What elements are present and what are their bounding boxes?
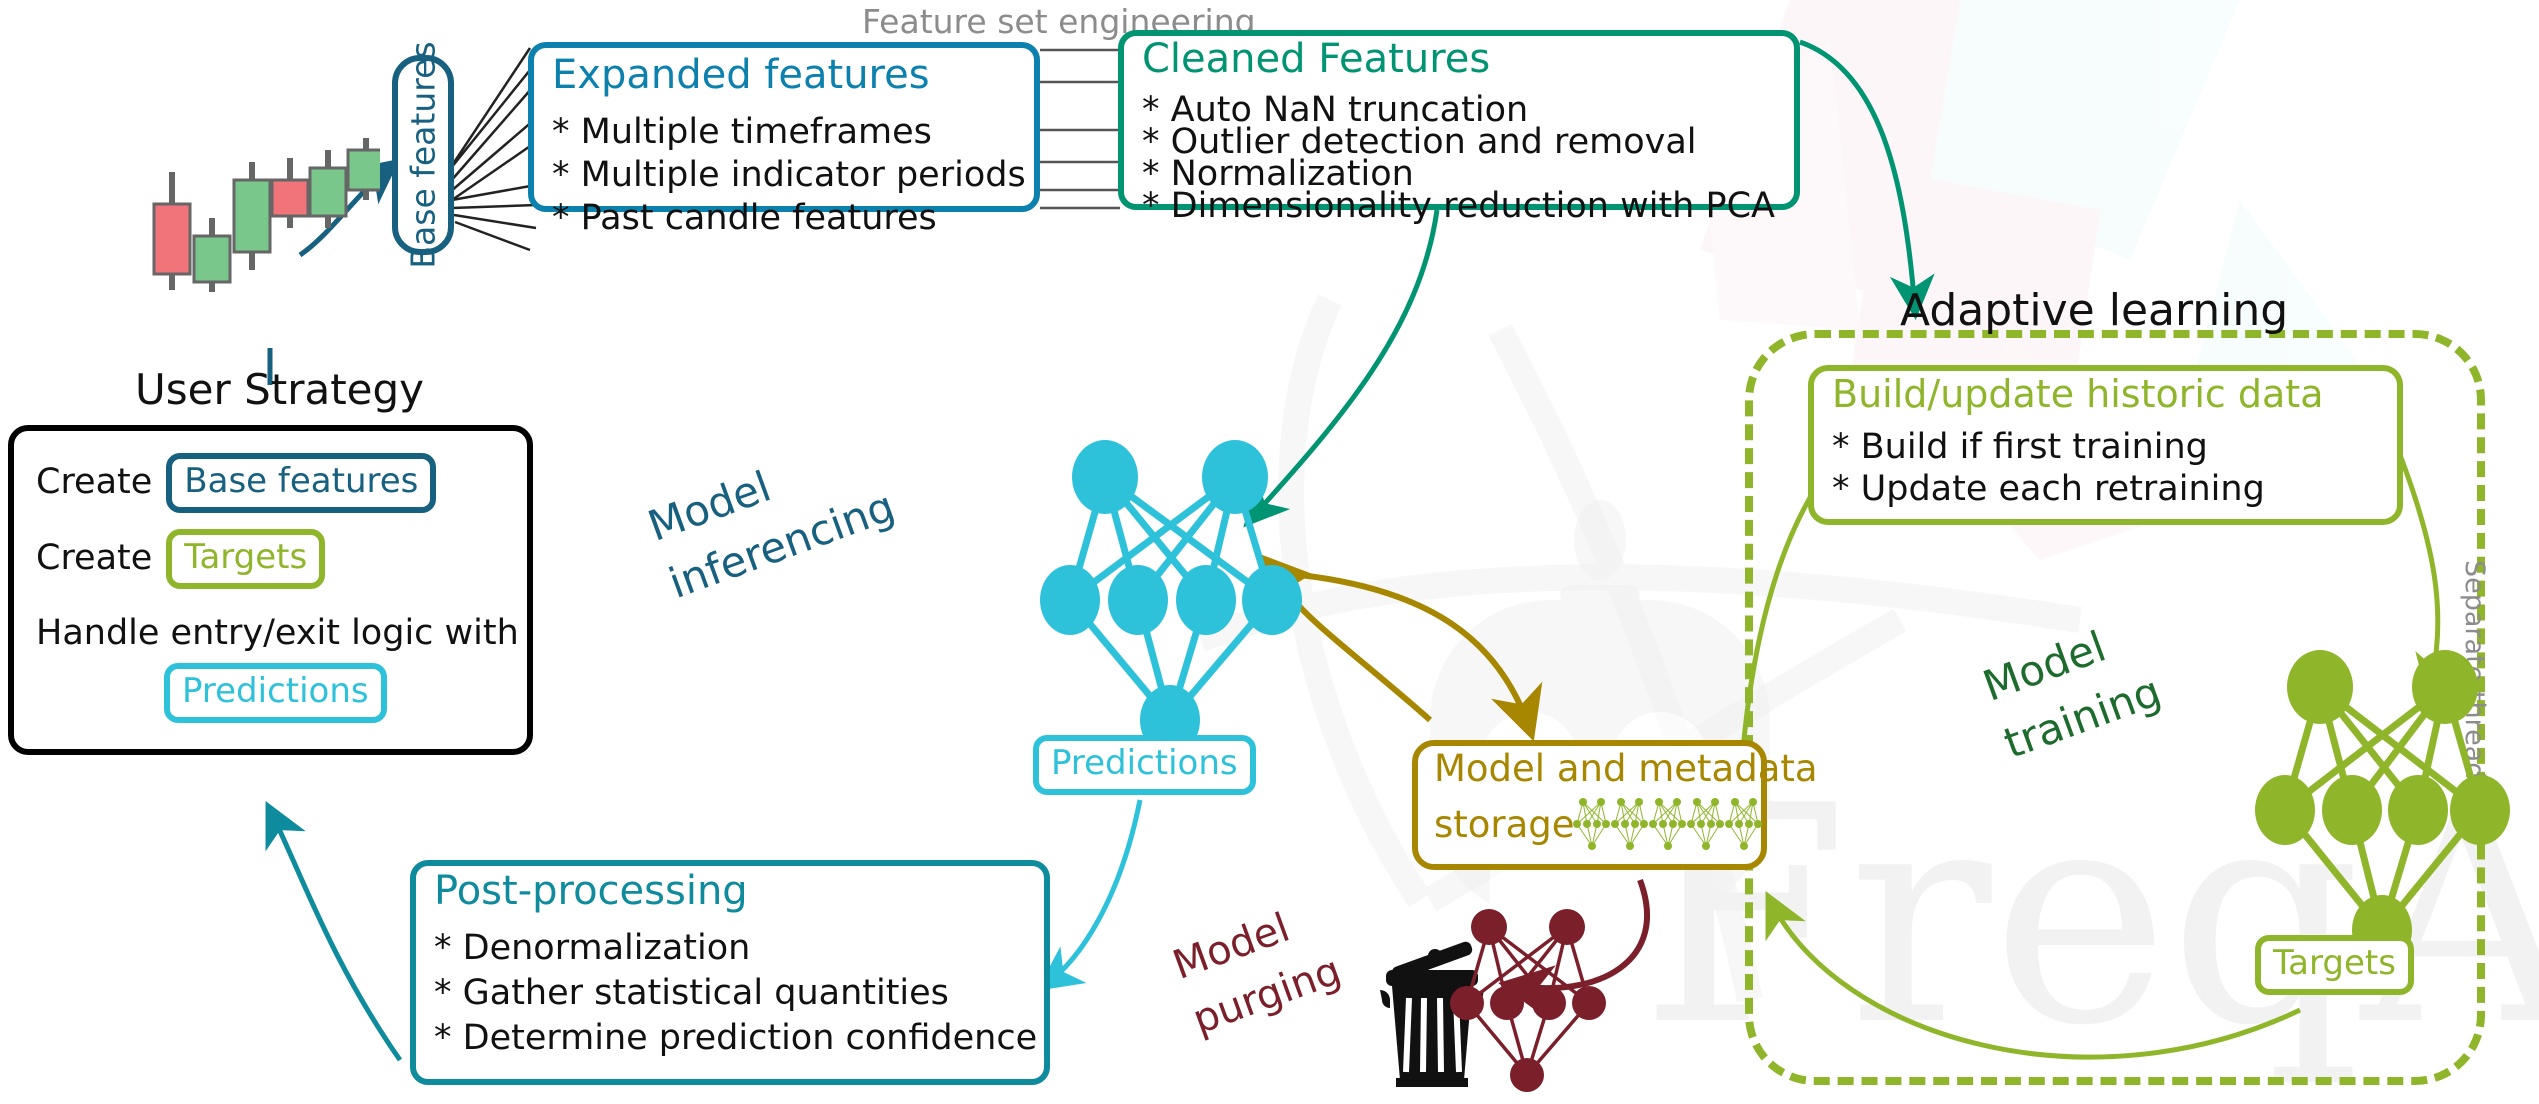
strategy-row-predictions: Predictions xyxy=(164,663,387,723)
create-label-2: Create xyxy=(36,536,152,582)
build-update-bullet-1: * Update each retraining xyxy=(1832,467,2265,513)
targets-pill-training[interactable]: Targets xyxy=(2255,935,2414,995)
post-processing-bullet-2: * Determine prediction confidence xyxy=(434,1016,1037,1062)
purged-neural-net xyxy=(1437,905,1617,1104)
strategy-row-targets: Create Targets xyxy=(36,529,325,589)
model-purging-label: Model purging xyxy=(1165,887,1349,1049)
build-update-title: Build/update historic data xyxy=(1832,373,2324,417)
strategy-row-base-features: Create Base features xyxy=(36,453,436,513)
post-processing-title: Post-processing xyxy=(434,868,748,914)
expanded-features-box[interactable]: Expanded features * Multiple timeframes … xyxy=(528,42,1040,212)
strategy-entry-exit-text: Handle entry/exit logic with xyxy=(36,611,519,657)
cleaned-features-box[interactable]: Cleaned Features * Auto NaN truncation *… xyxy=(1118,30,1800,210)
arrow-inference-to-storage xyxy=(1300,575,1530,730)
predictions-pill-main[interactable]: Predictions xyxy=(1033,735,1256,795)
storage-line-2: storage xyxy=(1434,804,1575,847)
diagram-canvas: FreqAI xyxy=(0,0,2539,1104)
arrow-predictions-to-post xyxy=(1045,800,1140,985)
arrow-post-to-strategy xyxy=(270,810,400,1060)
cleaned-features-bullet-3: * Dimensionality reduction with PCA xyxy=(1142,184,1775,230)
targets-pill-strategy[interactable]: Targets xyxy=(166,529,325,589)
expanded-features-title: Expanded features xyxy=(552,52,930,98)
expanded-features-bullet-1: * Multiple indicator periods xyxy=(552,153,1026,199)
base-features-box[interactable]: Base features xyxy=(392,55,454,255)
user-strategy-title: User Strategy xyxy=(135,365,424,414)
base-features-label: Base features xyxy=(404,41,443,268)
expanded-to-cleaned-lines xyxy=(1040,50,1120,208)
create-label-1: Create xyxy=(36,460,152,506)
build-update-bullet-0: * Build if first training xyxy=(1832,425,2208,471)
expanded-features-bullet-0: * Multiple timeframes xyxy=(552,110,932,156)
base-features-pill[interactable]: Base features xyxy=(166,453,436,513)
adaptive-learning-label: Adaptive learning xyxy=(1900,285,2288,336)
post-processing-box[interactable]: Post-processing * Denormalization * Gath… xyxy=(410,860,1050,1085)
model-inferencing-label: Model inferencing xyxy=(640,419,903,614)
storage-line-1: Model and metadata xyxy=(1434,748,1818,791)
training-neural-net xyxy=(2240,645,2520,975)
predictions-pill-strategy[interactable]: Predictions xyxy=(164,663,387,723)
user-strategy-box[interactable]: Create Base features Create Targets Hand… xyxy=(8,425,533,755)
inference-neural-net xyxy=(1020,435,1320,765)
fanout-lines xyxy=(447,48,536,250)
cleaned-features-title: Cleaned Features xyxy=(1142,36,1490,82)
expanded-features-bullet-2: * Past candle features xyxy=(552,196,937,242)
post-processing-bullet-1: * Gather statistical quantities xyxy=(434,971,949,1017)
storage-mini-nets xyxy=(1573,794,1763,856)
candlestick-chart xyxy=(140,80,380,300)
predictions-pill-main-label: Predictions xyxy=(1033,735,1256,795)
build-update-box[interactable]: Build/update historic data * Build if fi… xyxy=(1808,365,2403,525)
storage-box[interactable]: Model and metadata storage xyxy=(1412,740,1767,870)
targets-pill-training-label: Targets xyxy=(2255,935,2414,995)
post-processing-bullet-0: * Denormalization xyxy=(434,926,750,972)
arrow-cleaned-to-adaptive xyxy=(1800,42,1915,310)
